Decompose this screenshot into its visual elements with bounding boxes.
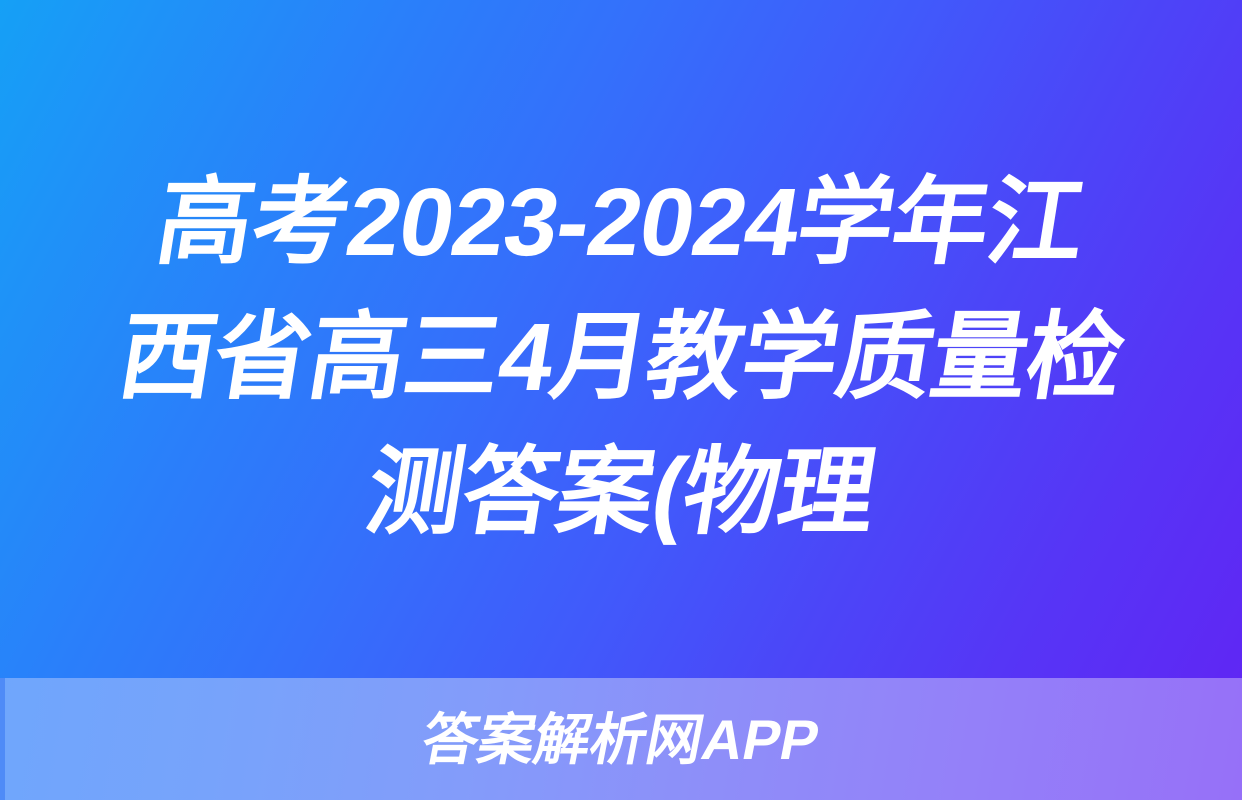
headline-line-1: 高考2023-2024学年江 [148, 155, 1094, 290]
poster-canvas: 高考2023-2024学年江 西省高三4月教学质量检 测答案(物理 答案解析网A… [0, 0, 1242, 800]
headline-line-3: 测答案(物理 [357, 425, 884, 560]
app-watermark-label: 答案解析网APP [418, 710, 825, 770]
headline-block: 高考2023-2024学年江 西省高三4月教学质量检 测答案(物理 [0, 0, 1242, 678]
headline-line-2: 西省高三4月教学质量检 [109, 290, 1133, 425]
footer-band: 答案解析网APP [0, 678, 1242, 800]
